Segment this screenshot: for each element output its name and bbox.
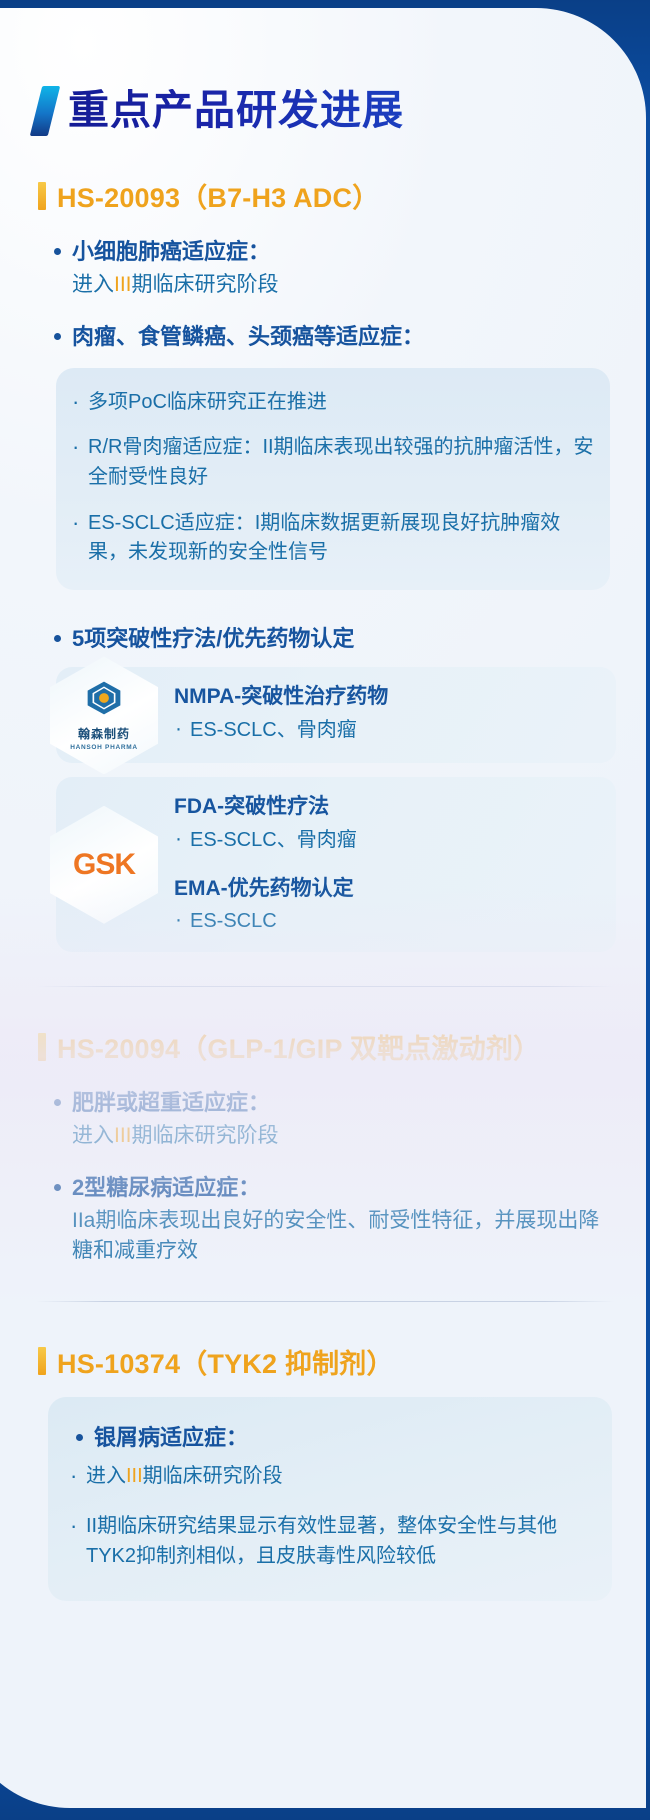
sub-highlight: III [114, 273, 132, 296]
certifications-list: 翰森制药 HANSOH PHARMA NMPA-突破性治疗药物 ES-SCLC、… [56, 667, 616, 952]
section-heading-row: HS-20093（B7-H3 ADC） [38, 176, 616, 215]
bullet-item: 5项突破性疗法/优先药物认定 [52, 624, 616, 654]
bullet-title: 银屑病适应症： [94, 1423, 594, 1453]
section-bar-icon [38, 1347, 46, 1375]
logo-inner: GSK [73, 848, 135, 882]
sub-prefix: 进入 [72, 1124, 114, 1147]
gsk-logo-text: GSK [73, 848, 135, 882]
sub-suffix: 期临床研究阶段 [132, 273, 279, 296]
subcard-hs10374: 银屑病适应症： 进入III期临床研究阶段 II期临床研究结果显示有效性显著，整体… [48, 1397, 612, 1601]
hansoh-logo: 翰森制药 HANSOH PHARMA [50, 656, 158, 774]
section-divider [36, 986, 614, 987]
certification-card: 翰森制药 HANSOH PHARMA NMPA-突破性治疗药物 ES-SCLC、… [56, 667, 616, 763]
bullet-title: 5项突破性疗法/优先药物认定 [72, 624, 616, 654]
page-title: 重点产品研发进展 [68, 89, 404, 132]
certification-title: EMA-优先药物认定 [174, 875, 598, 902]
poster-root: 重点产品研发进展 HS-20093（B7-H3 ADC） 小细胞肺癌适应症： 进… [0, 0, 650, 1820]
section-heading-row: HS-10374（TYK2 抑制剂） [38, 1342, 616, 1381]
sub-prefix: 进入 [86, 1465, 126, 1487]
certification-title: FDA-突破性疗法 [174, 793, 598, 820]
bullet-title: 2型糖尿病适应症： [72, 1173, 616, 1203]
bullet-subtext: IIa期临床表现出良好的安全性、耐受性特征，并展现出降糖和减重疗效 [72, 1206, 616, 1267]
subcard-item: 进入III期临床研究阶段 [68, 1462, 594, 1492]
certification-card: GSK FDA-突破性疗法 ES-SCLC、骨肉瘤 EMA-优先药物认定 ES-… [56, 777, 616, 952]
bullet-title: 小细胞肺癌适应症： [72, 237, 616, 267]
section-title: HS-10374（TYK2 抑制剂） [57, 1342, 394, 1381]
certification-title: NMPA-突破性治疗药物 [174, 683, 598, 710]
gsk-logo: GSK [50, 806, 158, 924]
sub-highlight: III [114, 1124, 132, 1147]
content-card: 重点产品研发进展 HS-20093（B7-H3 ADC） 小细胞肺癌适应症： 进… [0, 8, 646, 1808]
hansoh-logo-en: HANSOH PHARMA [70, 744, 138, 751]
bullet-title: 肉瘤、食管鳞癌、头颈癌等适应症： [72, 322, 616, 352]
subcard-item: 多项PoC临床研究正在推进 [70, 388, 594, 418]
section-hs-20093: HS-20093（B7-H3 ADC） 小细胞肺癌适应症： 进入III期临床研究… [34, 176, 616, 952]
section-title: HS-20094（GLP-1/GIP 双靶点激动剂） [57, 1027, 540, 1066]
subcard-item: II期临床研究结果显示有效性显著，整体安全性与其他TYK2抑制剂相似，且皮肤毒性… [68, 1512, 594, 1571]
sub-highlight: III [126, 1465, 143, 1487]
section-hs-10374: HS-10374（TYK2 抑制剂） 银屑病适应症： 进入III期临床研究阶段 … [34, 1342, 616, 1601]
sub-suffix: 期临床研究阶段 [132, 1124, 279, 1147]
subcard-hs20093: 多项PoC临床研究正在推进 R/R骨肉瘤适应症：II期临床表现出较强的抗肿瘤活性… [56, 368, 610, 590]
certification-item: ES-SCLC、骨肉瘤 [174, 715, 598, 745]
bullet-subtext: 进入III期临床研究阶段 [72, 270, 616, 300]
certification-item: ES-SCLC、骨肉瘤 [174, 825, 598, 855]
subcard-item: ES-SCLC适应症：I期临床数据更新展现良好抗肿瘤效果，未发现新的安全性信号 [70, 509, 594, 568]
section-bar-icon [38, 182, 46, 210]
page-title-row: 重点产品研发进展 [36, 86, 616, 136]
section-title: HS-20093（B7-H3 ADC） [57, 176, 379, 215]
section-hs-20094: HS-20094（GLP-1/GIP 双靶点激动剂） 肥胖或超重适应症： 进入I… [34, 1027, 616, 1267]
content-inner: 重点产品研发进展 HS-20093（B7-H3 ADC） 小细胞肺癌适应症： 进… [0, 8, 646, 1808]
sub-suffix: 期临床研究阶段 [143, 1465, 283, 1487]
section-divider [36, 1301, 614, 1302]
bullet-item: 小细胞肺癌适应症： 进入III期临床研究阶段 [52, 237, 616, 300]
logo-inner: 翰森制药 HANSOH PHARMA [70, 680, 138, 751]
sub-prefix: 进入 [72, 273, 114, 296]
bullet-item: 肉瘤、食管鳞癌、头颈癌等适应症： [52, 322, 616, 352]
bullet-title: 肥胖或超重适应症： [72, 1088, 616, 1118]
hansoh-hexagon-icon [84, 680, 124, 716]
title-slash-icon [30, 86, 60, 136]
subcard-item: R/R骨肉瘤适应症：II期临床表现出较强的抗肿瘤活性，安全耐受性良好 [70, 433, 594, 492]
section-heading-row: HS-20094（GLP-1/GIP 双靶点激动剂） [38, 1027, 616, 1066]
section-bar-icon [38, 1033, 46, 1061]
certification-item: ES-SCLC [174, 906, 598, 936]
bullet-item: 肥胖或超重适应症： 进入III期临床研究阶段 [52, 1088, 616, 1151]
bullet-item: 银屑病适应症： [74, 1423, 594, 1453]
hansoh-logo-cn: 翰森制药 [70, 725, 138, 742]
bullet-subtext: 进入III期临床研究阶段 [72, 1121, 616, 1151]
bullet-item: 2型糖尿病适应症： IIa期临床表现出良好的安全性、耐受性特征，并展现出降糖和减… [52, 1173, 616, 1267]
